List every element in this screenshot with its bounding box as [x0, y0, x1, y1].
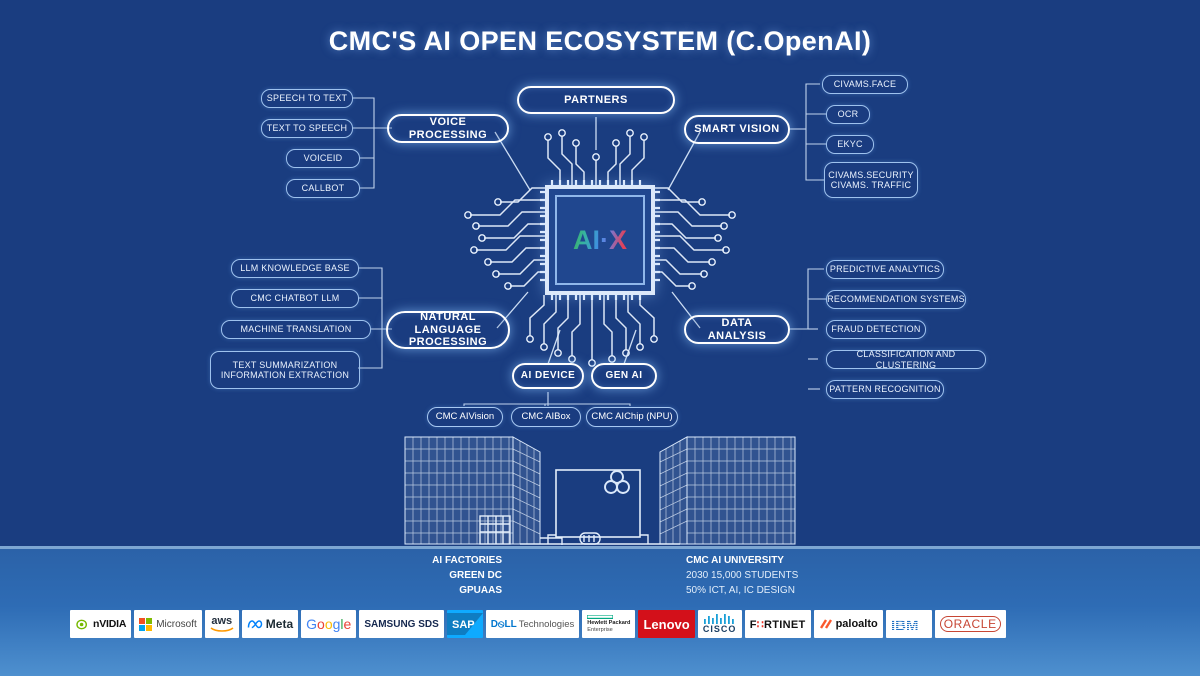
- hpe-bar-icon: [587, 615, 613, 619]
- leaf-cmc-aivision[interactable]: CMC AIVision: [427, 407, 503, 427]
- stats-left: AI FACTORIES GREEN DC GPUAAS: [330, 553, 502, 598]
- meta-infinity-icon: [247, 619, 264, 630]
- category-partners[interactable]: PARTNERS: [517, 86, 675, 114]
- leaf-cmc-aichip-npu[interactable]: CMC AIChip (NPU): [586, 407, 678, 427]
- leaf-cmc-aibox[interactable]: CMC AIBox: [511, 407, 581, 427]
- section-divider: [0, 546, 1200, 549]
- cisco-bars-icon: [703, 614, 737, 624]
- infographic-canvas: CMC'S AI OPEN ECOSYSTEM (C.OpenAI): [0, 0, 1200, 676]
- stat-green-dc: GREEN DC: [330, 568, 502, 583]
- sap-logo[interactable]: SAP: [447, 610, 483, 638]
- category-nlp[interactable]: NATURAL LANGUAGE PROCESSING: [386, 311, 510, 349]
- cisco-logo-text: CISCO: [703, 624, 737, 634]
- leaf-voiceid[interactable]: VOICEID: [286, 149, 360, 168]
- paloalto-logo-text: paloalto: [836, 618, 878, 630]
- leaf-fraud-detection[interactable]: FRAUD DETECTION: [826, 320, 926, 339]
- ibm-striped-icon: IBM: [891, 617, 927, 632]
- meta-logo[interactable]: Meta: [242, 610, 298, 638]
- meta-logo-text: Meta: [266, 617, 293, 631]
- category-data-analysis[interactable]: DATA ANALYSIS: [684, 315, 790, 344]
- leaf-llm-knowledge-base[interactable]: LLM KNOWLEDGE BASE: [231, 259, 359, 278]
- leaf-predictive-analytics[interactable]: PREDICTIVE ANALYTICS: [826, 260, 944, 279]
- chip-label: AI·X: [573, 225, 627, 256]
- microsoft-squares-icon: [139, 618, 152, 631]
- leaf-classification-and-clustering[interactable]: CLASSIFICATION AND CLUSTERING: [826, 350, 986, 369]
- samsung-sds-logo-text: SAMSUNG SDS: [364, 619, 438, 630]
- leaf-speech-to-text[interactable]: SPEECH TO TEXT: [261, 89, 353, 108]
- stats-right: CMC AI UNIVERSITY 2030 15,000 STUDENTS 5…: [686, 553, 906, 598]
- stat-students: 2030 15,000 STUDENTS: [686, 568, 906, 583]
- category-ai-device[interactable]: AI DEVICE: [512, 363, 584, 389]
- fortinet-logo[interactable]: F∷RTINET: [745, 610, 811, 638]
- fortinet-logo-text: F∷RTINET: [750, 618, 806, 631]
- leaf-recommendation-systems[interactable]: RECOMMENDATION SYSTEMS: [826, 290, 966, 309]
- nvidia-logo[interactable]: nVIDIA: [70, 610, 131, 638]
- aws-smile-icon: [210, 626, 234, 632]
- category-voice-processing[interactable]: VOICE PROCESSING: [387, 114, 509, 143]
- nvidia-logo-text: nVIDIA: [93, 618, 126, 630]
- chip-inner-frame: AI·X: [555, 195, 645, 285]
- leaf-text-summarization-information-extraction[interactable]: TEXT SUMMARIZATION INFORMATION EXTRACTIO…: [210, 351, 360, 389]
- stat-cmc-ai-university: CMC AI UNIVERSITY: [686, 553, 906, 568]
- leaf-machine-translation[interactable]: MACHINE TRANSLATION: [221, 320, 371, 339]
- partner-logo-bar: nVIDIA Microsoft aws Meta Google SAMSUNG…: [70, 610, 1130, 638]
- microsoft-logo-text: Microsoft: [156, 619, 197, 630]
- oracle-logo[interactable]: ORACLE: [935, 610, 1006, 638]
- aws-logo-text: aws: [211, 616, 232, 626]
- ai-chip: AI·X: [480, 150, 720, 330]
- dell-technologies-logo[interactable]: D⦸LLTechnologies: [486, 610, 579, 638]
- cisco-logo[interactable]: CISCO: [698, 610, 742, 638]
- nvidia-eye-icon: [75, 618, 90, 631]
- category-smart-vision[interactable]: SMART VISION: [684, 115, 790, 144]
- leaf-ekyc[interactable]: EKYC: [826, 135, 874, 154]
- paloalto-logo[interactable]: paloalto: [814, 610, 883, 638]
- lenovo-logo-text: Lenovo: [643, 617, 689, 632]
- hewlett-packard-enterprise-logo[interactable]: Hewlett Packard Enterprise: [582, 610, 635, 638]
- page-title: CMC'S AI OPEN ECOSYSTEM (C.OpenAI): [0, 26, 1200, 57]
- leaf-text-to-speech[interactable]: TEXT TO SPEECH: [261, 119, 353, 138]
- google-logo-text: Google: [306, 616, 351, 632]
- sap-shape-icon: SAP: [447, 613, 483, 635]
- google-logo[interactable]: Google: [301, 610, 356, 638]
- dell-logo-text: D⦸LL: [491, 619, 517, 630]
- chip-body: AI·X: [545, 185, 655, 295]
- oracle-logo-text: ORACLE: [940, 616, 1001, 632]
- lenovo-logo[interactable]: Lenovo: [638, 610, 694, 638]
- ibm-logo[interactable]: IBM: [886, 610, 932, 638]
- stat-ai-factories: AI FACTORIES: [330, 553, 502, 568]
- samsung-sds-logo[interactable]: SAMSUNG SDS: [359, 610, 443, 638]
- svg-text:SAP: SAP: [452, 619, 475, 631]
- leaf-cmc-chatbot-llm[interactable]: CMC CHATBOT LLM: [231, 289, 359, 308]
- stat-ict-design: 50% ICT, AI, IC DESIGN: [686, 583, 906, 598]
- stat-gpuaas: GPUAAS: [330, 583, 502, 598]
- leaf-civams-face[interactable]: CIVAMS.FACE: [822, 75, 908, 94]
- svg-text:IBM: IBM: [891, 617, 919, 632]
- leaf-callbot[interactable]: CALLBOT: [286, 179, 360, 198]
- aws-logo[interactable]: aws: [205, 610, 239, 638]
- microsoft-logo[interactable]: Microsoft: [134, 610, 202, 638]
- paloalto-slashes-icon: [819, 618, 834, 630]
- category-gen-ai[interactable]: GEN AI: [591, 363, 657, 389]
- leaf-pattern-recognition[interactable]: PATTERN RECOGNITION: [826, 380, 944, 399]
- leaf-ocr[interactable]: OCR: [826, 105, 870, 124]
- leaf-civams-security-traffic[interactable]: CIVAMS.SECURITY CIVAMS. TRAFFIC: [824, 162, 918, 198]
